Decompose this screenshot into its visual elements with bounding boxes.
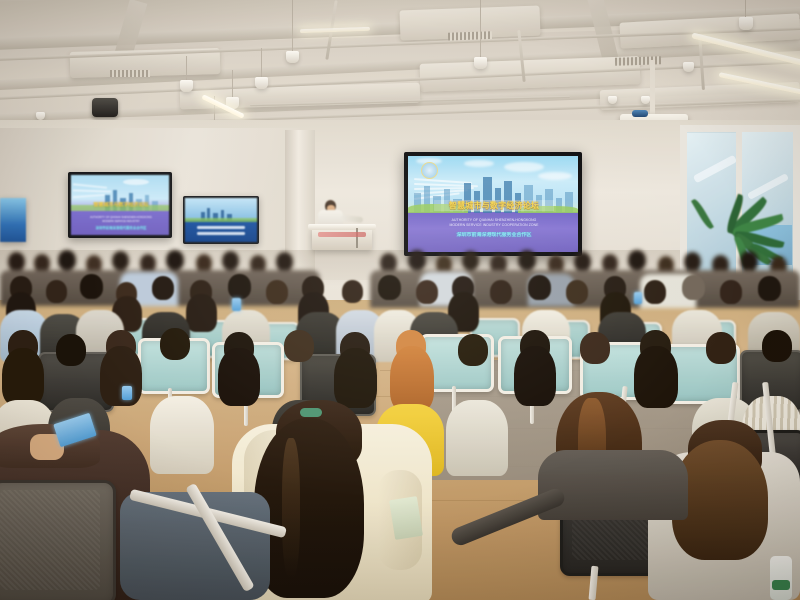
foreground-attendee-right-edge — [556, 392, 676, 512]
grey-top-torso — [538, 450, 688, 520]
water-bottle[interactable] — [770, 556, 792, 600]
paper-handout[interactable] — [389, 496, 423, 540]
conference-hall-photo: 智慧城市与数字经济论坛 AUTHORITY OF QIANHAI SHENZHE… — [0, 0, 800, 600]
foreground-chair-left[interactable] — [0, 480, 140, 600]
chair-mesh-panel — [0, 490, 100, 590]
bottle-cap — [772, 580, 790, 590]
